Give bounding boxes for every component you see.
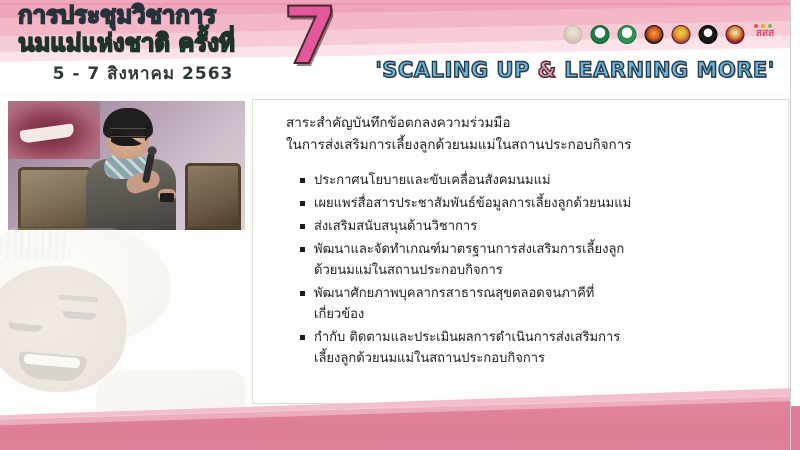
content-heading-line2: ในการส่งเสริมการเลี้ยงลูกด้วยนมแม่ในสถาน… <box>286 134 756 156</box>
conference-title-line2: นมแม่แห่งชาติ ครั้งที่ <box>18 29 298 57</box>
logo-health-department-green-icon <box>616 24 638 48</box>
speaker-photo <box>8 101 245 230</box>
content-heading-line1: สาระสำคัญบันทึกข้อตกลงความร่วมมือ <box>286 112 756 134</box>
list-item: ส่งเสริมสนับสนุนด้านวิชาการ <box>314 216 756 237</box>
conference-title-line1: การประชุมวิชาการ <box>18 2 298 29</box>
bullet-text-line1: พัฒนาศักยภาพบุคลากรสาธารณสุขตลอดจนภาคีที… <box>314 286 594 301</box>
bullet-text-line1: ประกาศนโยบายและขับเคลื่อนสังคมนมแม่ <box>314 173 551 188</box>
slide-right-margin-pink <box>791 406 800 450</box>
thaihealth-wordmark: สสส <box>751 27 779 40</box>
bullet-text-line2: เลี้ยงลูกด้วยนมแม่ในสถานประกอบกิจการ <box>314 348 756 369</box>
content-panel-inner: สาระสำคัญบันทึกข้อตกลงความร่วมมือ ในการส… <box>286 112 756 371</box>
logo-black-circular-emblem-icon <box>697 24 719 48</box>
logo-royal-emblem-icon <box>562 24 584 48</box>
footer-pink-wedge <box>0 388 800 450</box>
partner-logos-row: สสส <box>562 24 779 48</box>
content-bullet-list: ประกาศนโยบายและขับเคลื่อนสังคมนมแม่ เผยแ… <box>286 170 756 369</box>
conference-tagline: 'SCALING UP & LEARNING MORE' <box>360 58 790 82</box>
tagline-ampersand: & <box>538 58 557 82</box>
chair-left <box>18 167 92 230</box>
bullet-text-line1: พัฒนาและจัดทำเกณฑ์มาตรฐานการส่งเสริมการเ… <box>314 242 624 257</box>
bullet-text-line2: เกี่ยวข้อง <box>314 304 756 325</box>
bullet-text-line1: ส่งเสริมสนับสนุนด้านวิชาการ <box>314 219 477 234</box>
slide-right-margin <box>790 0 800 450</box>
presentation-slide: การประชุมวิชาการ นมแม่แห่งชาติ ครั้งที่ … <box>0 0 800 450</box>
logo-thaihealth-sss-icon: สสส <box>751 24 779 48</box>
logo-ministry-public-health-green-icon <box>589 24 611 48</box>
logo-gold-pagoda-emblem-icon <box>643 24 665 48</box>
conference-date: 5 - 7 สิงหาคม 2563 <box>18 60 268 87</box>
backdrop-mouth-graphic <box>8 101 100 159</box>
list-item: ประกาศนโยบายและขับเคลื่อนสังคมนมแม่ <box>314 170 756 191</box>
bullet-text-line2: ด้วยนมแม่ในสถานประกอบกิจการ <box>314 260 756 281</box>
bullet-text-line1: เผยแพร่สื่อสารประชาสัมพันธ์ข้อมูลการเลี้… <box>314 196 631 211</box>
list-item: พัฒนาศักยภาพบุคลากรสาธารณสุขตลอดจนภาคีที… <box>314 283 756 325</box>
handheld-device <box>160 193 174 202</box>
bullet-text-line1: กำกับ ติดตามและประเมินผลการดำเนินการส่งเ… <box>314 330 620 345</box>
list-item: เผยแพร่สื่อสารประชาสัมพันธ์ข้อมูลการเลี้… <box>314 193 756 214</box>
content-panel: สาระสำคัญบันทึกข้อตกลงความร่วมมือ ในการส… <box>252 99 789 404</box>
tagline-part2: LEARNING MORE' <box>556 58 774 82</box>
conference-title-block: การประชุมวิชาการ นมแม่แห่งชาติ ครั้งที่ … <box>18 2 298 87</box>
chair-right <box>185 163 241 230</box>
slide-header-banner: การประชุมวิชาการ นมแม่แห่งชาติ ครั้งที่ … <box>0 0 800 92</box>
logo-red-garuda-emblem-icon <box>724 24 746 48</box>
edition-number: 7 <box>283 0 335 76</box>
tagline-part1: 'SCALING UP <box>375 58 537 82</box>
speaker-glasses <box>110 128 146 137</box>
list-item: พัฒนาและจัดทำเกณฑ์มาตรฐานการส่งเสริมการเ… <box>314 239 756 281</box>
logo-royal-crest-icon <box>670 24 692 48</box>
list-item: กำกับ ติดตามและประเมินผลการดำเนินการส่งเ… <box>314 327 756 369</box>
